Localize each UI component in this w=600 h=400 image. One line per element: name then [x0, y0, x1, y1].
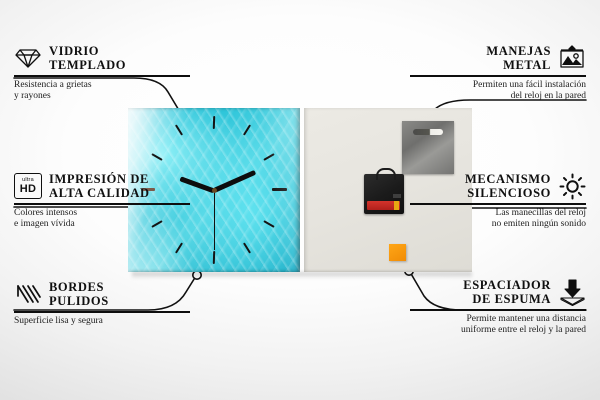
feature-title: BORDES PULIDOS — [49, 280, 109, 308]
gear-icon — [558, 172, 586, 200]
feature-rule — [410, 309, 586, 311]
diamond-icon — [14, 44, 42, 72]
clock-tick-11 — [175, 124, 183, 135]
clock-tick-6 — [213, 251, 215, 264]
ultra-hd-icon: ultra HD — [14, 172, 42, 200]
feature-title: MANEJAS METAL — [486, 44, 551, 72]
feature-description: Las manecillas del reloj no emiten ningú… — [410, 208, 586, 231]
foam-spacer-pad — [389, 244, 406, 261]
feature-espaciador-espuma: ESPACIADOR DE ESPUMA Permite mantener un… — [410, 278, 586, 337]
clock-tick-2 — [263, 153, 274, 161]
wall-frame-hanger-icon — [558, 44, 586, 72]
clock-mechanism-box — [364, 174, 404, 214]
feature-header: VIDRIO TEMPLADO — [14, 44, 190, 72]
mechanism-chip — [393, 194, 401, 198]
clock-minute-hand — [213, 170, 256, 192]
clock-second-hand — [214, 190, 215, 250]
feature-title: ESPACIADOR DE ESPUMA — [463, 278, 551, 306]
feature-rule — [410, 203, 586, 205]
feature-title: MECANISMO SILENCIOSO — [465, 172, 551, 200]
feature-description: Superficie lisa y segura — [14, 316, 190, 328]
hanger-slot — [413, 129, 443, 135]
feature-bordes-pulidos: BORDES PULIDOS Superficie lisa y segura — [14, 280, 190, 327]
product-infographic: VIDRIO TEMPLADO Resistencia a grietas y … — [0, 0, 600, 400]
feature-title: VIDRIO TEMPLADO — [49, 44, 126, 72]
clock-tick-4 — [263, 220, 274, 228]
polished-edges-icon — [14, 280, 42, 308]
feature-title: IMPRESIÓN DE ALTA CALIDAD — [49, 172, 150, 200]
mechanism-hanging-loop — [376, 168, 396, 180]
clock-tick-5 — [243, 242, 251, 253]
feature-header: MECANISMO SILENCIOSO — [410, 172, 586, 200]
feature-header: ESPACIADOR DE ESPUMA — [410, 278, 586, 306]
arrow-down-pad-icon — [558, 278, 586, 306]
clock-center-hub — [212, 188, 217, 193]
feature-description: Permite mantener una distancia uniforme … — [410, 314, 586, 337]
feature-vidrio-templado: VIDRIO TEMPLADO Resistencia a grietas y … — [14, 44, 190, 103]
feature-rule — [14, 75, 190, 77]
feature-impresion-alta-calidad: ultra HD IMPRESIÓN DE ALTA CALIDAD Color… — [14, 172, 190, 231]
feature-header: BORDES PULIDOS — [14, 280, 190, 308]
feature-mecanismo-silencioso: MECANISMO SILENCIOSO — [410, 172, 586, 231]
feature-description: Resistencia a grietas y rayones — [14, 80, 190, 103]
feature-manejas-metal: MANEJAS METAL Permiten una fácil instala… — [410, 44, 586, 103]
feature-description: Permiten una fácil instalación del reloj… — [410, 80, 586, 103]
feature-header: ultra HD IMPRESIÓN DE ALTA CALIDAD — [14, 172, 190, 200]
feature-rule — [14, 311, 190, 313]
feature-rule — [410, 75, 586, 77]
ultra-hd-icon-main-text: HD — [20, 184, 37, 195]
metal-hanger-plate — [402, 121, 454, 174]
clock-tick-12 — [213, 116, 215, 129]
aa-battery — [367, 201, 400, 210]
feature-description: Colores intensos e imagen vívida — [14, 208, 190, 231]
clock-tick-7 — [175, 242, 183, 253]
feature-header: MANEJAS METAL — [410, 44, 586, 72]
feature-rule — [14, 203, 190, 205]
clock-tick-3 — [272, 188, 287, 191]
clock-tick-10 — [151, 153, 162, 161]
clock-tick-1 — [243, 124, 251, 135]
